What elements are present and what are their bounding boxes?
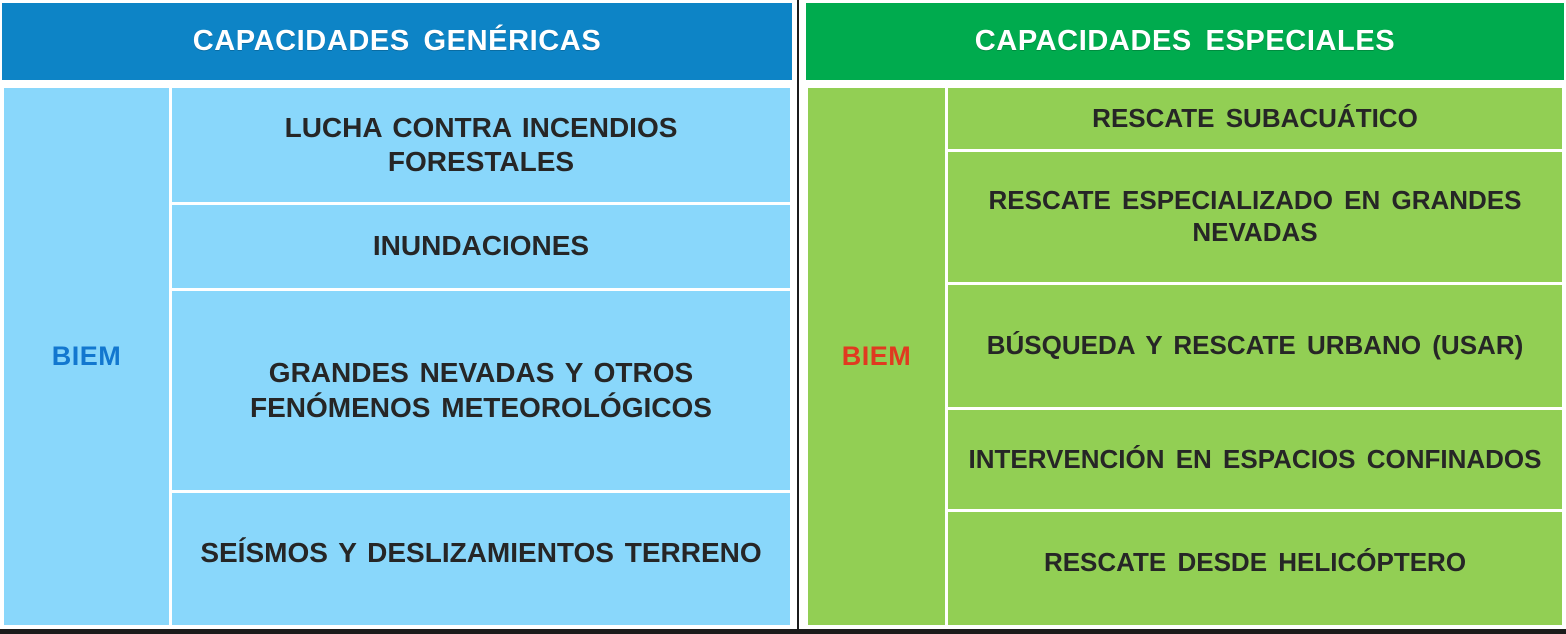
header-capacidades-genericas: CAPACIDADES GENÉRICAS (2, 3, 792, 80)
table-capacidades-genericas: BIEM LUCHA CONTRA INCENDIOS FORESTALES I… (2, 88, 792, 627)
bottom-divider (0, 629, 1566, 634)
header-capacidades-especiales: CAPACIDADES ESPECIALES (806, 3, 1564, 80)
table-row[interactable]: INTERVENCIÓN EN ESPACIOS CONFINADOS (948, 410, 1562, 512)
table-row[interactable]: RESCATE SUBACUÁTICO (948, 88, 1562, 152)
table-row[interactable]: GRANDES NEVADAS Y OTROS FENÓMENOS METEOR… (172, 291, 790, 493)
table-row[interactable]: BÚSQUEDA Y RESCATE URBANO (USAR) (948, 285, 1562, 410)
table-capacidades-especiales: BIEM RESCATE SUBACUÁTICO RESCATE ESPECIA… (806, 88, 1564, 627)
rows-capacidades-genericas: LUCHA CONTRA INCENDIOS FORESTALES INUNDA… (172, 88, 790, 625)
table-row[interactable]: LUCHA CONTRA INCENDIOS FORESTALES (172, 88, 790, 205)
table-row[interactable]: INUNDACIONES (172, 205, 790, 291)
panel-divider (797, 0, 799, 634)
unit-label-biem-especiales: BIEM (808, 88, 948, 625)
unit-label-biem-genericas: BIEM (4, 88, 172, 625)
table-row[interactable]: RESCATE ESPECIALIZADO EN GRANDES NEVADAS (948, 152, 1562, 285)
rows-capacidades-especiales: RESCATE SUBACUÁTICO RESCATE ESPECIALIZAD… (948, 88, 1562, 625)
capabilities-table-board: CAPACIDADES GENÉRICAS BIEM LUCHA CONTRA … (0, 0, 1566, 634)
table-row[interactable]: SEÍSMOS Y DESLIZAMIENTOS TERRENO (172, 493, 790, 614)
table-row[interactable]: RESCATE DESDE HELICÓPTERO (948, 512, 1562, 614)
